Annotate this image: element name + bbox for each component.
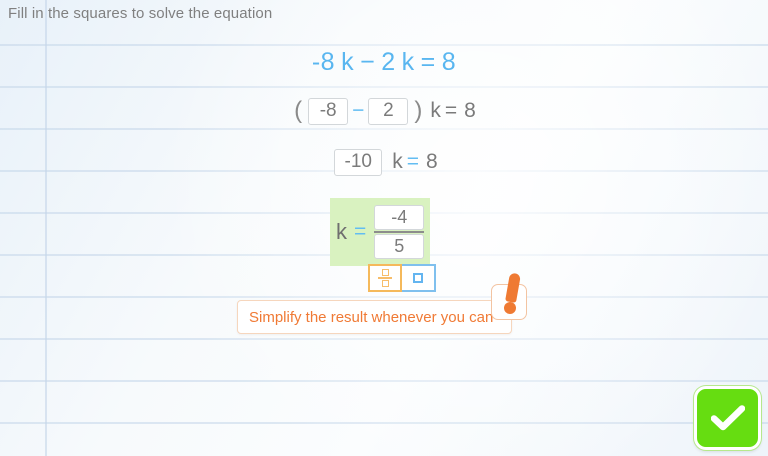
warning-icon	[491, 284, 527, 320]
original-variable-2: k	[402, 48, 415, 77]
step2-close-paren: )	[414, 97, 422, 125]
exclamation-dot	[504, 302, 516, 314]
step2-input-box-1[interactable]: -8	[308, 98, 348, 125]
original-equals-sign: =	[421, 48, 436, 77]
worksheet-canvas: Fill in the squares to solve the equatio…	[0, 0, 768, 456]
step3-variable: k	[392, 150, 403, 174]
fraction-denominator-input[interactable]: 5	[374, 234, 424, 259]
original-operator: −	[360, 48, 375, 77]
fraction-icon	[378, 269, 392, 288]
submit-button[interactable]	[694, 386, 761, 450]
equation-original: -8 k − 2 k = 8	[0, 46, 768, 78]
step3-input-box[interactable]: -10	[334, 149, 382, 176]
original-coefficient-2: 2	[381, 48, 395, 77]
step2-variable: k	[430, 99, 441, 123]
step2-input-box-2[interactable]: 2	[368, 98, 408, 125]
page-title: Fill in the squares to solve the equatio…	[8, 5, 272, 22]
original-right-side: 8	[442, 48, 456, 77]
hint-banner: Simplify the result whenever you can	[237, 300, 512, 334]
fraction-bar	[374, 231, 424, 233]
step3-right-side: 8	[426, 150, 438, 174]
math-input-toolbar	[368, 264, 436, 292]
fraction-tool-button[interactable]	[368, 264, 402, 292]
step2-right-side: 8	[464, 99, 476, 123]
original-variable-1: k	[341, 48, 354, 77]
fraction-numerator-input[interactable]: -4	[374, 205, 424, 230]
original-coefficient-1: -8	[312, 48, 335, 77]
step2-operator: −	[352, 99, 364, 123]
equation-step-4: k = -4 5	[336, 198, 424, 266]
equation-step-3: -10 k = 8	[0, 147, 768, 177]
fraction-group: -4 5	[374, 205, 424, 259]
exclamation-stem	[505, 272, 521, 302]
step4-variable: k	[336, 219, 347, 245]
equation-step-2: ( -8 − 2 ) k = 8	[0, 96, 768, 126]
square-icon	[413, 273, 423, 283]
step2-equals-sign: =	[445, 99, 457, 123]
checkmark-icon	[711, 405, 745, 431]
step4-equals-sign: =	[354, 220, 366, 244]
hint-message: Simplify the result whenever you can	[238, 309, 493, 326]
step2-open-paren: (	[294, 97, 302, 125]
square-tool-button[interactable]	[402, 264, 436, 292]
step3-equals-sign: =	[407, 150, 419, 174]
